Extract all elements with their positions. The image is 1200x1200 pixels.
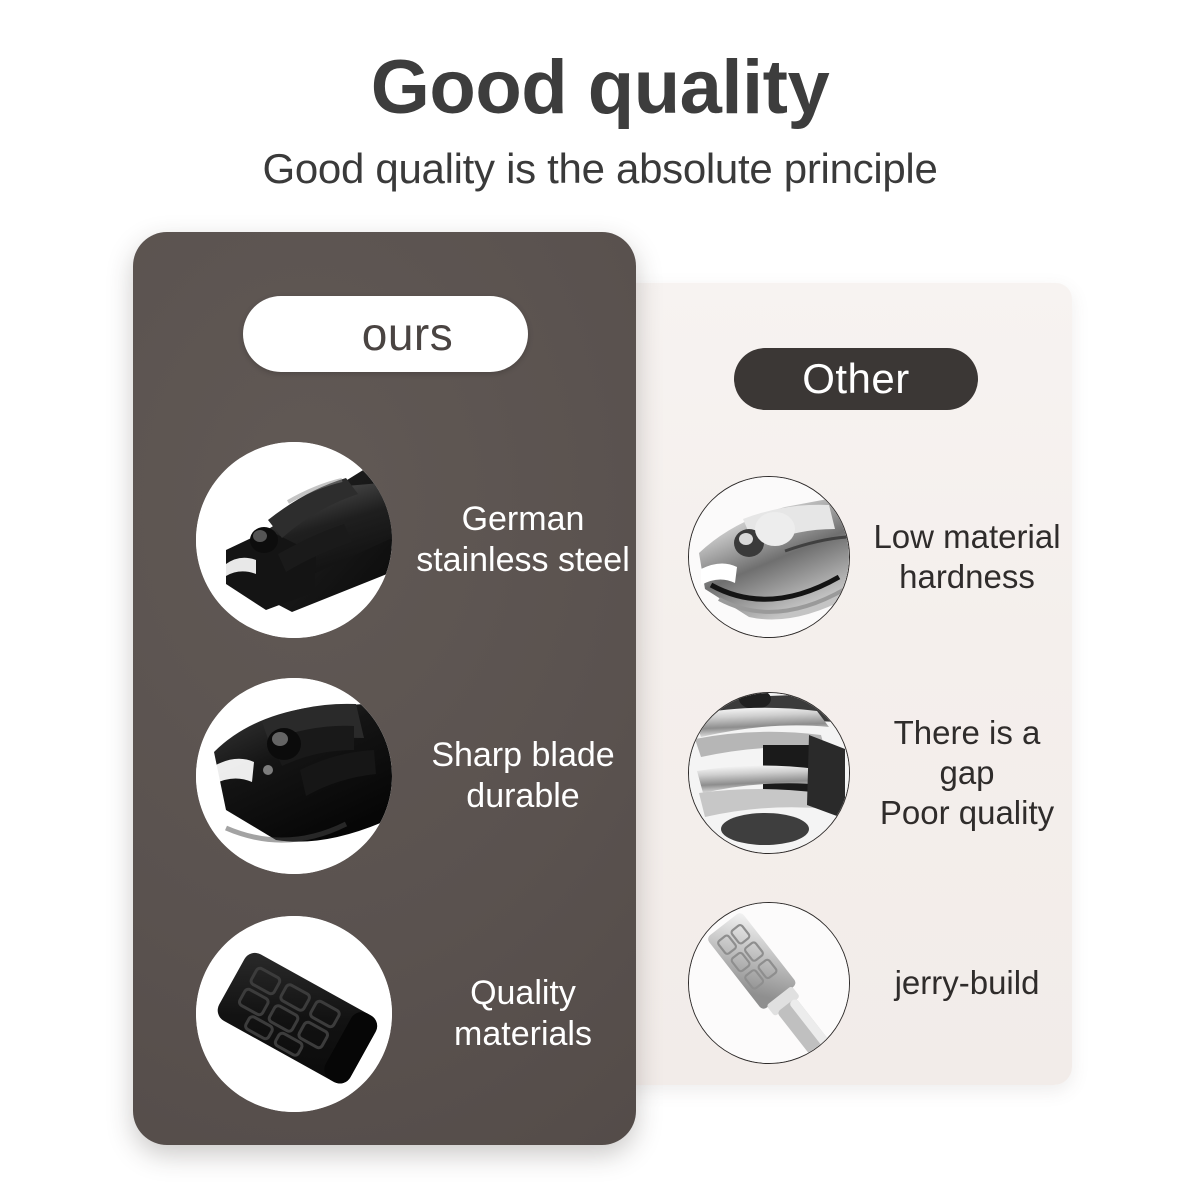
other-feature-label: Low material hardness bbox=[866, 517, 1068, 598]
ours-feature-row: Sharp blade durable bbox=[196, 678, 636, 874]
ours-feature-label: Quality materials bbox=[410, 973, 636, 1056]
other-feature-label: jerry-build bbox=[866, 963, 1068, 1003]
silver-nail-clipper-gap-closeup-image bbox=[688, 692, 850, 854]
other-feature-row: There is a gap Poor quality bbox=[688, 692, 1068, 854]
silver-textured-grip-handle-image bbox=[688, 902, 850, 1064]
other-feature-label: There is a gap Poor quality bbox=[866, 713, 1068, 834]
black-nail-clipper-jaw-closeup-image bbox=[196, 442, 392, 638]
ours-feature-row: Quality materials bbox=[196, 916, 636, 1112]
black-nail-clipper-blade-closeup-image bbox=[196, 678, 392, 874]
ours-badge-label: ours bbox=[362, 307, 453, 361]
silver-nail-clipper-jaw-closeup-image bbox=[688, 476, 850, 638]
other-badge-label: Other bbox=[802, 355, 910, 403]
ours-badge: ours bbox=[243, 296, 528, 372]
other-feature-row: jerry-build bbox=[688, 902, 1068, 1064]
ours-feature-label: German stainless steel bbox=[410, 499, 636, 582]
other-feature-row: Low material hardness bbox=[688, 476, 1068, 638]
other-badge: Other bbox=[734, 348, 978, 410]
ours-feature-label: Sharp blade durable bbox=[410, 735, 636, 818]
black-textured-grip-handle-image bbox=[196, 916, 392, 1112]
comparison-section: ours Other bbox=[0, 0, 1200, 1200]
ours-feature-row: German stainless steel bbox=[196, 442, 636, 638]
